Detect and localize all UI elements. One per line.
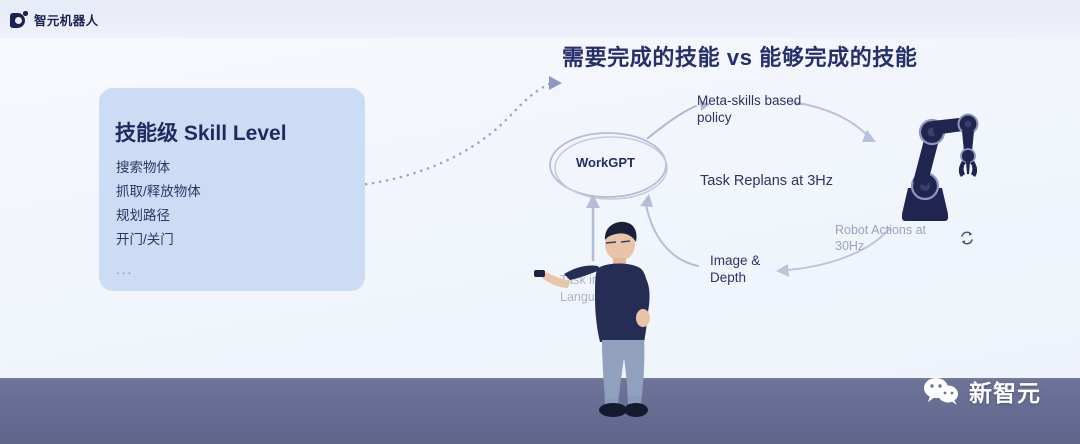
d-mark-icon [10, 11, 27, 28]
wechat-icon [922, 376, 962, 406]
slide-scene: 智元机器人 需要完成的技能 vs 能够完成的技能 技能级 Skill Level… [0, 0, 1080, 444]
watermark-text: 新智元 [969, 374, 1041, 408]
skill-list: 搜索物体 抓取/释放物体 规划路径 开门/关门 ... [116, 156, 201, 282]
list-item: 搜索物体 [116, 156, 201, 180]
list-item: 抓取/释放物体 [116, 180, 201, 204]
refresh-loop-icon [957, 228, 977, 248]
list-item-ellipsis: ... [116, 252, 201, 282]
page-title: 需要完成的技能 vs 能够完成的技能 [562, 40, 918, 72]
robot-arm-icon [880, 104, 984, 228]
label-task-replans: Task Replans at 3Hz [700, 173, 833, 190]
label-meta-skills-policy: Meta-skills based policy [697, 92, 817, 126]
presenter-clicker-icon [534, 270, 545, 277]
watermark: 新智元 [922, 374, 1041, 408]
label-image-depth: Image & Depth [710, 252, 800, 286]
node-workgpt-label: WorkGPT [576, 155, 635, 170]
list-item: 开门/关门 [116, 228, 201, 252]
brand-name: 智元机器人 [34, 10, 99, 29]
presenter-figure [524, 218, 664, 444]
brand-logo: 智元机器人 [10, 10, 99, 29]
skill-level-card: 技能级 Skill Level 搜索物体 抓取/释放物体 规划路径 开门/关门 … [99, 88, 365, 291]
list-item: 规划路径 [116, 204, 201, 228]
skill-card-title: 技能级 Skill Level [115, 117, 287, 147]
header-band [0, 0, 1080, 38]
